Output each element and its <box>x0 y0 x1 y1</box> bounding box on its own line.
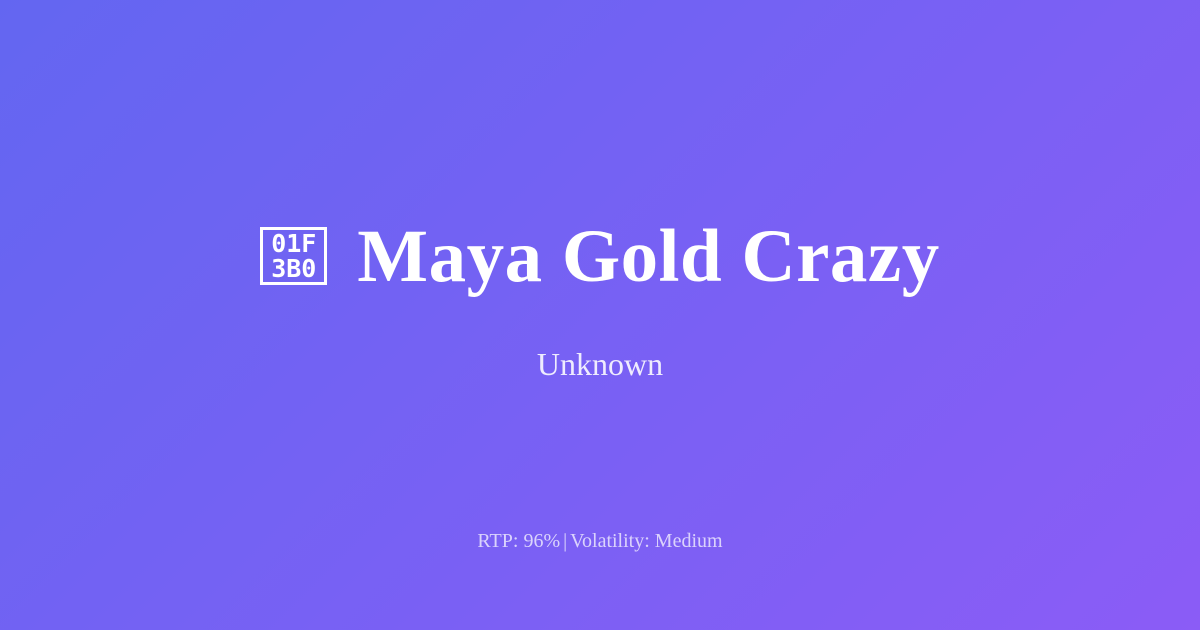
title-row: 01F 3B0 Maya Gold Crazy <box>260 219 939 294</box>
game-preview-card: 01F 3B0 Maya Gold Crazy Unknown RTP: 96%… <box>0 0 1200 630</box>
slot-machine-icon: 01F 3B0 <box>260 227 327 285</box>
rtp-label: RTP: 96% <box>477 530 560 552</box>
game-title: Maya Gold Crazy <box>357 219 939 294</box>
card-center-block: 01F 3B0 Maya Gold Crazy Unknown <box>0 0 1200 614</box>
volatility-label: Volatility: Medium <box>570 530 722 552</box>
meta-separator: | <box>560 530 570 552</box>
game-meta-line: RTP: 96%|Volatility: Medium <box>0 530 1200 552</box>
game-provider: Unknown <box>537 348 663 380</box>
slot-machine-icon-codepoint-low: 3B0 <box>271 256 316 282</box>
slot-machine-icon-codepoint-high: 01F <box>271 231 316 257</box>
